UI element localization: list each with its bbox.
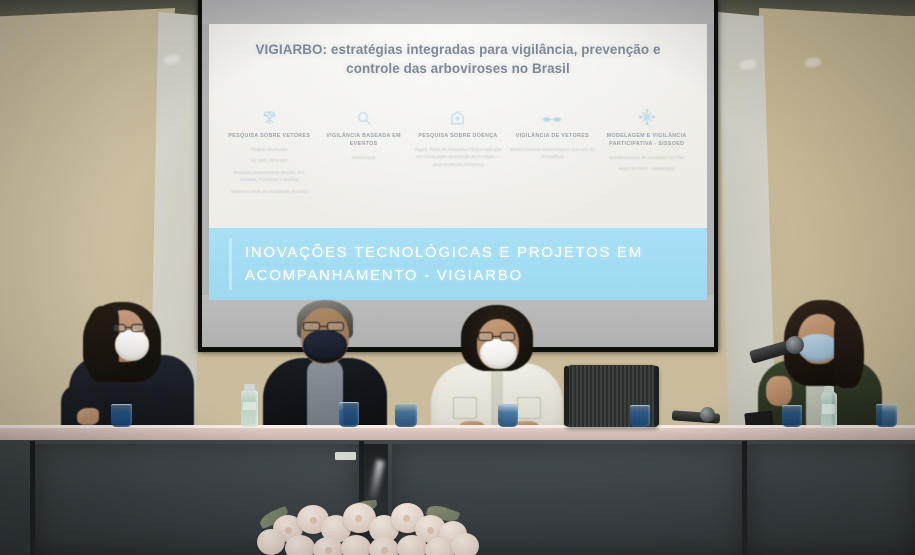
panelist-3-face-mask (480, 339, 517, 369)
panelist-2-glasses (303, 322, 347, 333)
glasses-bridge (493, 336, 500, 337)
slide-column-body: Rapid: Rede de Pesquisa Clínica Aplicada… (414, 146, 503, 168)
hospital-icon (414, 100, 503, 126)
table-panel-label (335, 452, 356, 460)
panelist-3-pocket-right (517, 397, 541, 419)
slide-column-doenca: PESQUISA SOBRE DOENÇA Rapid: Rede de Pes… (414, 100, 503, 172)
slide-column-body: Monitoramento do município do Pilar Mapa… (602, 154, 691, 173)
empty-chair-frame-left (564, 366, 569, 426)
panelist-center-left (255, 300, 395, 430)
slide-column-line: Mapa de risco - InfoDengue (602, 165, 691, 172)
orchid-flower-arrangement (255, 489, 490, 555)
slide-column-line: Monitoramento entomológico com uso de ar… (508, 146, 597, 161)
handheld-microphone-head[interactable] (786, 336, 804, 354)
slide-column-heading: PESQUISA SOBRE VETORES (225, 133, 314, 141)
slide-column-line: Projeto Mosbucito (225, 146, 314, 153)
banner-accent-bar (229, 238, 232, 290)
slide-column-vetores: PESQUISA SOBRE VETORES Projeto Mosbucito… (225, 100, 314, 199)
slide-column-vigilancia-vetores: VIGILÂNCIA DE VETORES Monitoramento ento… (508, 100, 597, 165)
slide-column-line: Insetos k em/s por irradiação (Recife) (225, 188, 314, 195)
drinking-glass-1[interactable] (111, 404, 132, 427)
orchid-bloom (341, 535, 371, 555)
orchid-center (403, 515, 410, 522)
banner-text: INOVAÇÕES TECNOLÓGICAS E PROJETOS EM ACO… (245, 241, 687, 288)
orchid-bloom (257, 529, 285, 555)
table-edge-highlight (0, 425, 915, 428)
mosquito-pair-icon (508, 100, 597, 126)
table-microphone-head[interactable] (700, 407, 715, 422)
drinking-glass-5[interactable] (630, 405, 650, 427)
table-front-panel-far-right (747, 444, 915, 555)
slide-title: VIGIARBO: estratégias integradas para vi… (235, 40, 681, 79)
mosquito-icon (225, 100, 314, 126)
water-bottle-1-label (243, 402, 256, 410)
network-node-icon (602, 100, 691, 126)
slide-column-body: Projeto Mosbucito AL, MG, PE e MG Mosqui… (225, 146, 314, 195)
panelist-2-shirt (307, 360, 343, 432)
orchid-center (355, 515, 362, 522)
panelist-4-face-mask (798, 334, 838, 362)
drinking-glass-6[interactable] (782, 405, 802, 427)
panelist-1-hair-front (85, 306, 119, 382)
slide-column-body: Monitoramento entomológico com uso de ar… (508, 146, 597, 161)
orchid-center (325, 547, 332, 554)
orchid-bloom (451, 533, 479, 555)
glasses-lens-left (113, 324, 126, 332)
water-bottle-2-label (822, 404, 835, 414)
conference-photo-scene: VIGIARBO: estratégias integradas para vi… (0, 0, 915, 555)
glasses-lens-left (303, 322, 320, 331)
panelist-3-pocket-left (453, 397, 477, 419)
slide-banner: INOVAÇÕES TECNOLÓGICAS E PROJETOS EM ACO… (209, 228, 707, 300)
orchid-center (285, 527, 292, 534)
magnifier-icon (319, 100, 408, 126)
slide-column-line: Mosquito Depressores (Recife, BH, Manaus… (225, 169, 314, 184)
orchid-center (310, 517, 317, 524)
drinking-glass-2[interactable] (339, 402, 359, 427)
glasses-bridge (320, 326, 327, 327)
slide-column-heading: MODELAGEM E VIGILÂNCIA PARTICIPATIVA - S… (602, 133, 691, 149)
panelist-3-glasses (478, 332, 518, 342)
panelist-4-hand (766, 376, 792, 406)
glasses-lens-right (131, 324, 144, 332)
drinking-glass-3[interactable] (395, 403, 417, 427)
slide-column-eventos: Vigilância Baseada em Eventos InfoDengue (319, 100, 408, 165)
slide-column-row: PESQUISA SOBRE VETORES Projeto Mosbucito… (225, 100, 691, 199)
glasses-lens-right (500, 332, 515, 341)
orchid-bloom (285, 535, 315, 555)
drinking-glass-7[interactable] (876, 404, 897, 427)
slide-column-line: InfoDengue (319, 154, 408, 161)
slide-column-modelagem: MODELAGEM E VIGILÂNCIA PARTICIPATIVA - S… (602, 100, 691, 177)
panelist-2-face-mask (303, 330, 347, 363)
panelist-4-hair-side (834, 316, 864, 388)
slide-column-heading: Vigilância Baseada em Eventos (319, 133, 408, 149)
slide-column-heading: VIGILÂNCIA DE VETORES (508, 133, 597, 141)
drinking-glass-4[interactable] (498, 404, 518, 427)
projection-screen-surface: VIGIARBO: estratégias integradas para vi… (202, 0, 714, 347)
water-bottle-1-cap[interactable] (244, 384, 255, 391)
table-panel-seam-a (30, 441, 35, 555)
slide-column-line: Rapid: Rede de Pesquisa Clínica Aplicada… (414, 146, 503, 168)
panelist-1-hand (77, 408, 99, 425)
orchid-bloom (397, 535, 427, 555)
slide-column-line: AL, MG, PE e MG (225, 157, 314, 164)
slide-column-body: InfoDengue (319, 154, 408, 161)
empty-chair-frame-right (654, 366, 659, 426)
water-bottle-2-cap[interactable] (824, 386, 834, 393)
glasses-bridge (126, 327, 131, 328)
glasses-lens-right (327, 322, 344, 331)
slide-column-line: Monitoramento do município do Pilar (602, 154, 691, 161)
orchid-center (427, 527, 434, 534)
glasses-lens-left (478, 332, 493, 341)
slide-column-heading: PESQUISA SOBRE DOENÇA (414, 133, 503, 141)
panelist-1-glasses (113, 324, 147, 334)
orchid-center (381, 547, 388, 554)
screen-top-gray-band (202, 0, 714, 24)
panelist-1-face-mask (115, 330, 149, 361)
